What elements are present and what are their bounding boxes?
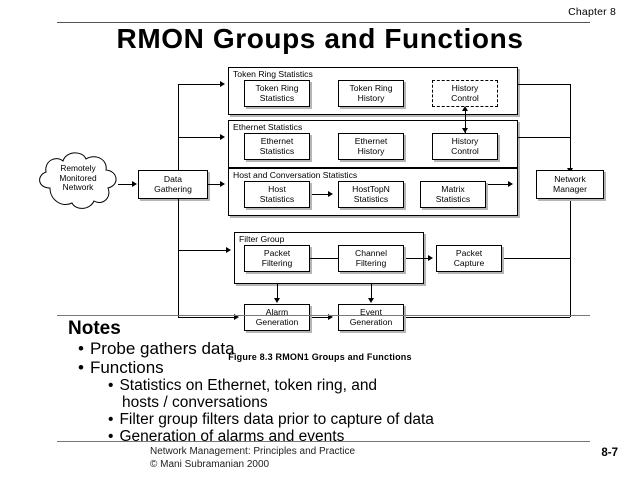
arrowhead-channel-to-capture: [428, 255, 433, 261]
note-subbullet-2: •Filter group filters data prior to capt…: [108, 411, 434, 429]
box-channel-filtering[interactable]: Channel Filtering: [338, 245, 404, 272]
cloud-label: Remotely Monitored Network: [36, 164, 120, 193]
note-subbullet-3: •Generation of alarms and events: [108, 428, 344, 446]
cloud-label-line-3: Network: [36, 183, 120, 193]
return-token-ring: [518, 84, 570, 85]
rmon-diagram: Remotely Monitored Network Data Gatherin…: [0, 60, 640, 310]
group-label-host: Host and Conversation Statistics: [233, 170, 357, 180]
return-packet-capture: [504, 258, 570, 259]
arrowhead-history-control-down: [462, 128, 468, 133]
branch-to-tokenring: [178, 84, 222, 85]
connector-channel-to-capture: [406, 258, 430, 259]
arrowhead-tokenring: [220, 81, 225, 87]
box-line-2: History: [355, 147, 388, 157]
return-ethernet: [518, 137, 570, 138]
box-line-2: Filtering: [262, 259, 293, 269]
box-line-2: Capture: [454, 259, 485, 269]
box-token-ring-history-control[interactable]: History Control: [432, 80, 498, 107]
arrowhead-packet-to-alarm: [274, 298, 280, 303]
box-line-2: Statistics: [260, 147, 294, 157]
arrowhead-matrix-to-manager: [508, 181, 513, 187]
box-packet-filtering[interactable]: Packet Filtering: [244, 245, 310, 272]
box-token-ring-statistics[interactable]: Token Ring Statistics: [244, 80, 310, 107]
bus-right-upper: [570, 84, 571, 174]
box-line-2: Control: [451, 94, 479, 104]
note-bullet-1-text: Probe gathers data: [90, 339, 235, 358]
bullet-glyph: •: [108, 377, 113, 395]
note-bullet-1: •Probe gathers data: [78, 339, 235, 359]
branch-to-alarm: [178, 317, 236, 318]
arrowhead-host: [220, 181, 225, 187]
slide: Chapter 8 RMON Groups and Functions Remo…: [0, 0, 640, 480]
arrowhead-ethernet: [220, 134, 225, 140]
group-label-ethernet: Ethernet Statistics: [233, 122, 302, 132]
box-line-2: Control: [451, 147, 479, 157]
arrowhead-cloud-to-gathering: [132, 181, 137, 187]
bullet-glyph: •: [78, 339, 84, 359]
note-subbullet-1: •Statistics on Ethernet, token ring, and: [108, 377, 377, 395]
box-line-2: Statistics: [256, 94, 299, 104]
bullet-glyph: •: [78, 358, 84, 378]
box-line-2: Generation: [350, 318, 393, 328]
box-line-2: Generation: [256, 318, 299, 328]
chapter-label: Chapter 8: [568, 6, 616, 18]
arrowhead-history-control-up: [462, 106, 468, 111]
arrowhead-filter: [226, 247, 231, 253]
box-line-2: Statistics: [352, 195, 390, 205]
notes-heading: Notes: [68, 318, 121, 340]
note-subbullet-1-cont: hosts / conversations: [122, 394, 268, 412]
box-ethernet-statistics[interactable]: Ethernet Statistics: [244, 133, 310, 160]
note-subbullet-1-cont-text: hosts / conversations: [122, 394, 268, 411]
box-ethernet-history-control[interactable]: History Control: [432, 133, 498, 160]
connector-packet-to-channel: [310, 258, 338, 259]
box-hosttopn-statistics[interactable]: HostTopN Statistics: [338, 181, 404, 208]
note-subbullet-1-text: Statistics on Ethernet, token ring, and: [119, 377, 377, 394]
group-label-filter: Filter Group: [239, 234, 284, 244]
bus-right-lower: [570, 199, 571, 317]
bus-left-upper: [178, 84, 179, 170]
box-line-2: Statistics: [260, 195, 294, 205]
bus-left-lower: [178, 199, 179, 317]
arrowhead-channel-to-event: [368, 298, 374, 303]
box-line-2: History: [350, 94, 393, 104]
group-label-token-ring: Token Ring Statistics: [233, 69, 313, 79]
box-event-generation[interactable]: Event Generation: [338, 304, 404, 331]
box-token-ring-history[interactable]: Token Ring History: [338, 80, 404, 107]
connector-matrix-to-manager: [488, 184, 510, 185]
box-alarm-generation[interactable]: Alarm Generation: [244, 304, 310, 331]
notes-divider: [57, 315, 590, 316]
box-data-gathering-line-2: Gathering: [154, 185, 192, 195]
box-matrix-statistics[interactable]: Matrix Statistics: [420, 181, 486, 208]
box-network-manager[interactable]: Network Manager: [536, 170, 604, 199]
footer-line-1: Network Management: Principles and Pract…: [150, 446, 355, 459]
page-number: 8-7: [601, 447, 618, 459]
footer-divider: [57, 441, 590, 442]
bullet-glyph: •: [108, 411, 113, 429]
note-bullet-2-text: Functions: [90, 358, 164, 377]
return-event: [406, 317, 570, 318]
box-data-gathering[interactable]: Data Gathering: [138, 170, 208, 199]
branch-to-filter: [178, 250, 228, 251]
box-network-manager-line-2: Manager: [553, 185, 587, 195]
note-subbullet-2-text: Filter group filters data prior to captu…: [119, 411, 433, 428]
box-line-2: Statistics: [436, 195, 470, 205]
footer-text: Network Management: Principles and Pract…: [150, 446, 355, 471]
note-bullet-2: •Functions: [78, 358, 164, 378]
bullet-glyph: •: [108, 428, 113, 446]
box-host-statistics[interactable]: Host Statistics: [244, 181, 310, 208]
footer-line-2: © Mani Subramanian 2000: [150, 459, 355, 472]
branch-to-ethernet: [178, 137, 222, 138]
box-packet-capture[interactable]: Packet Capture: [436, 245, 502, 272]
box-ethernet-history[interactable]: Ethernet History: [338, 133, 404, 160]
page-title: RMON Groups and Functions: [0, 23, 640, 55]
arrowhead-host-to-hosttopn: [328, 191, 333, 197]
note-subbullet-3-text: Generation of alarms and events: [119, 428, 344, 445]
box-line-2: Filtering: [355, 259, 387, 269]
